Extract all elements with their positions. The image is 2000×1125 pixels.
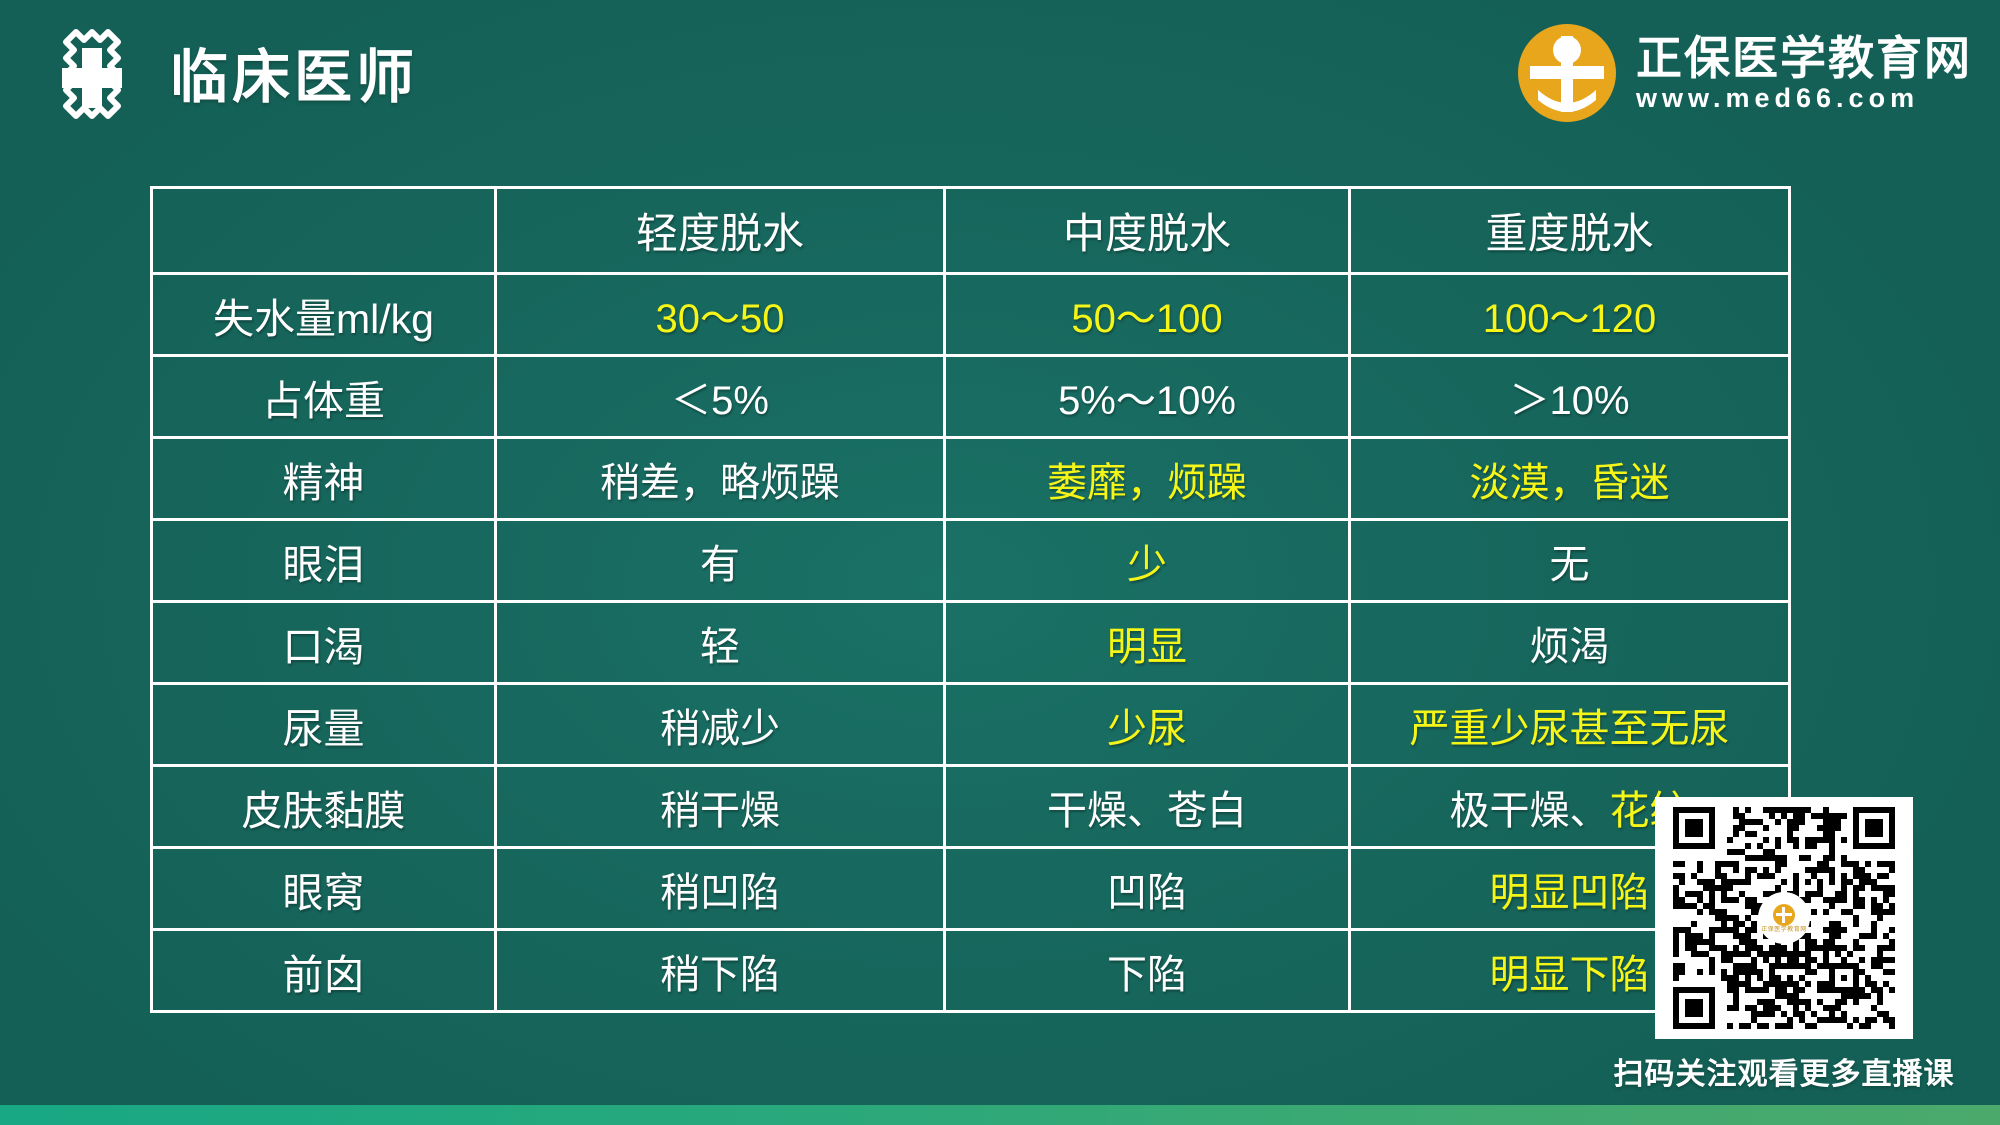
row-label: 口渴 (152, 602, 496, 684)
site-url: www.med66.com (1636, 84, 1972, 112)
table-cell: 萎靡，烦躁 (945, 438, 1350, 520)
table-cell: ＜5% (496, 356, 945, 438)
table-cell: 干燥、苍白 (945, 766, 1350, 848)
slide-canvas: 临床医师 正保医学教育网 www.med66.com (0, 0, 2000, 1125)
table-row: 口渴轻明显烦渴 (152, 602, 1790, 684)
bottom-accent-bar (0, 1105, 2000, 1125)
brand-left: 临床医师 (40, 26, 418, 130)
table-row: 眼窝稍凹陷凹陷明显凹陷 (152, 848, 1790, 930)
row-label: 失水量ml/kg (152, 274, 496, 356)
table-row: 占体重＜5%5%～10%＞10% (152, 356, 1790, 438)
table-body: 轻度脱水中度脱水重度脱水失水量ml/kg30～5050～100100～120占体… (152, 188, 1790, 1012)
table-cell: 有 (496, 520, 945, 602)
table-cell: 轻 (496, 602, 945, 684)
table-cell: 稍差，略烦躁 (496, 438, 945, 520)
qr-block[interactable]: 正保医学教育网 扫码关注观看更多直播课 (1655, 797, 1913, 1093)
table-cell: 明显 (945, 602, 1350, 684)
table-header-row: 轻度脱水中度脱水重度脱水 (152, 188, 1790, 274)
column-header-2: 中度脱水 (945, 188, 1350, 274)
table-corner-cell (152, 188, 496, 274)
row-label: 眼窝 (152, 848, 496, 930)
row-label: 占体重 (152, 356, 496, 438)
table-cell: 下陷 (945, 930, 1350, 1012)
column-header-1: 轻度脱水 (496, 188, 945, 274)
table-row: 前囟稍下陷下陷明显下陷 (152, 930, 1790, 1012)
table-cell: 稍凹陷 (496, 848, 945, 930)
table-cell: 少 (945, 520, 1350, 602)
page-title: 临床医师 (170, 49, 418, 107)
row-label: 前囟 (152, 930, 496, 1012)
row-label: 精神 (152, 438, 496, 520)
column-header-3: 重度脱水 (1350, 188, 1790, 274)
table-row: 尿量稍减少少尿严重少尿甚至无尿 (152, 684, 1790, 766)
table-cell: 30～50 (496, 274, 945, 356)
brand-right-words: 正保医学教育网 www.med66.com (1636, 34, 1972, 113)
site-name: 正保医学教育网 (1636, 34, 1972, 82)
table-cell: 稍干燥 (496, 766, 945, 848)
table-cell: 稍减少 (496, 684, 945, 766)
table-cell: 少尿 (945, 684, 1350, 766)
table-cell: 5%～10% (945, 356, 1350, 438)
table-cell: 严重少尿甚至无尿 (1350, 684, 1790, 766)
qr-center-label: 正保医学教育网 (1761, 927, 1807, 933)
medical-cross-flower-icon (40, 26, 144, 130)
table-cell: 100～120 (1350, 274, 1790, 356)
qr-center-logo: 正保医学教育网 (1758, 892, 1810, 944)
brand-right[interactable]: 正保医学教育网 www.med66.com (1514, 20, 1972, 126)
slide-header: 临床医师 正保医学教育网 www.med66.com (0, 0, 2000, 150)
qr-center-cross-icon (1773, 904, 1795, 926)
table-cell: 50～100 (945, 274, 1350, 356)
qr-caption: 扫码关注观看更多直播课 (1614, 1049, 1955, 1093)
row-label: 皮肤黏膜 (152, 766, 496, 848)
med66-roundel-icon (1514, 20, 1620, 126)
cell-text-part: 极干燥、 (1450, 789, 1610, 833)
table-cell: 烦渴 (1350, 602, 1790, 684)
table-cell: 无 (1350, 520, 1790, 602)
table-cell: 凹陷 (945, 848, 1350, 930)
table-cell: ＞10% (1350, 356, 1790, 438)
table-row: 眼泪有少无 (152, 520, 1790, 602)
row-label: 眼泪 (152, 520, 496, 602)
table-cell: 淡漠，昏迷 (1350, 438, 1790, 520)
dehydration-comparison-table: 轻度脱水中度脱水重度脱水失水量ml/kg30～5050～100100～120占体… (150, 186, 1788, 1012)
table-row: 皮肤黏膜稍干燥干燥、苍白极干燥、花纹 (152, 766, 1790, 848)
table-row: 精神稍差，略烦躁萎靡，烦躁淡漠，昏迷 (152, 438, 1790, 520)
table-cell: 稍下陷 (496, 930, 945, 1012)
qr-code-icon[interactable]: 正保医学教育网 (1655, 797, 1913, 1039)
table-row: 失水量ml/kg30～5050～100100～120 (152, 274, 1790, 356)
row-label: 尿量 (152, 684, 496, 766)
